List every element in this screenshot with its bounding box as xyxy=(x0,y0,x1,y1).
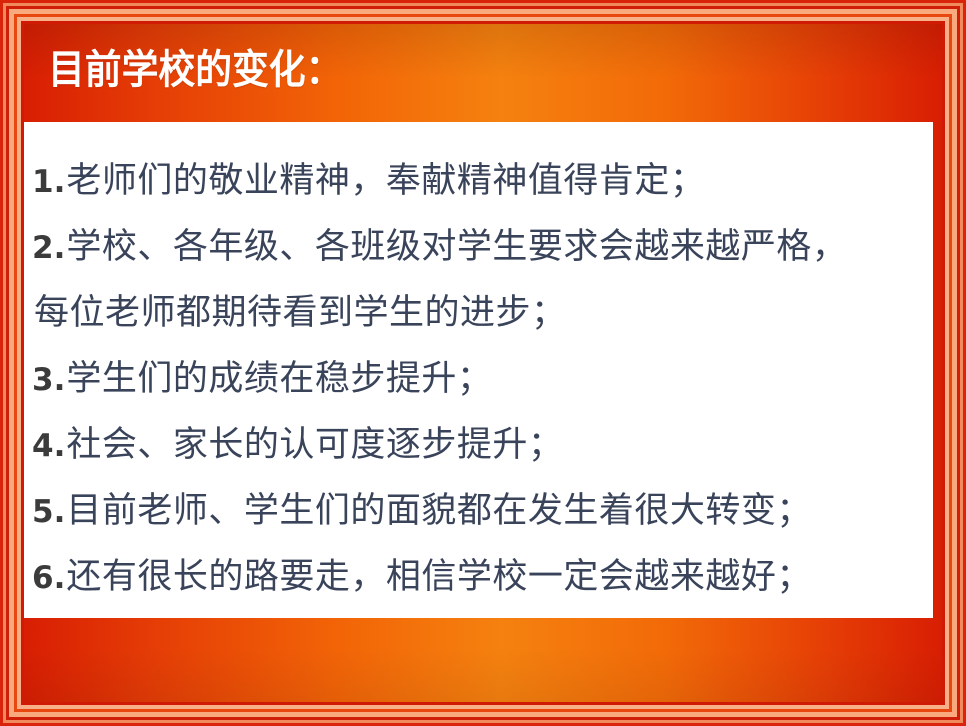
list-item-number: 6. xyxy=(32,560,65,596)
list-item-text: 每位老师都期待看到学生的进步； xyxy=(34,293,567,332)
numbered-list: 1.老师们的敬业精神，奉献精神值得肯定；2.学校、各年级、各班级对学生要求会越来… xyxy=(24,148,933,610)
list-item: 6.还有很长的路要走，相信学校一定会越来越好； xyxy=(24,544,933,610)
list-item-number: 3. xyxy=(32,362,65,398)
list-item-number: 4. xyxy=(32,428,65,464)
list-item-text: 学校、各年级、各班级对学生要求会越来越严格， xyxy=(66,227,847,266)
list-item-text: 目前老师、学生们的面貌都在发生着很大转变； xyxy=(66,491,812,530)
list-item: 1.老师们的敬业精神，奉献精神值得肯定； xyxy=(24,148,933,214)
list-item: 每位老师都期待看到学生的进步； xyxy=(24,280,933,346)
list-item-text: 社会、家长的认可度逐步提升； xyxy=(66,425,563,464)
slide-canvas: 目前学校的变化： 1.老师们的敬业精神，奉献精神值得肯定；2.学校、各年级、各班… xyxy=(24,24,942,702)
list-item: 4.社会、家长的认可度逐步提升； xyxy=(24,412,933,478)
list-item-text: 学生们的成绩在稳步提升； xyxy=(66,359,492,398)
list-item: 5.目前老师、学生们的面貌都在发生着很大转变； xyxy=(24,478,933,544)
list-item-number: 5. xyxy=(32,494,65,530)
list-item: 3.学生们的成绩在稳步提升； xyxy=(24,346,933,412)
slide-title: 目前学校的变化： xyxy=(48,44,342,96)
list-item: 2.学校、各年级、各班级对学生要求会越来越严格， xyxy=(24,214,933,280)
list-item-text: 老师们的敬业精神，奉献精神值得肯定； xyxy=(66,161,705,200)
list-item-text: 还有很长的路要走，相信学校一定会越来越好； xyxy=(66,557,812,596)
content-panel: 1.老师们的敬业精神，奉献精神值得肯定；2.学校、各年级、各班级对学生要求会越来… xyxy=(24,122,933,618)
list-item-number: 1. xyxy=(32,164,65,200)
presentation-slide: 目前学校的变化： 1.老师们的敬业精神，奉献精神值得肯定；2.学校、各年级、各班… xyxy=(0,0,966,726)
list-item-number: 2. xyxy=(32,230,65,266)
